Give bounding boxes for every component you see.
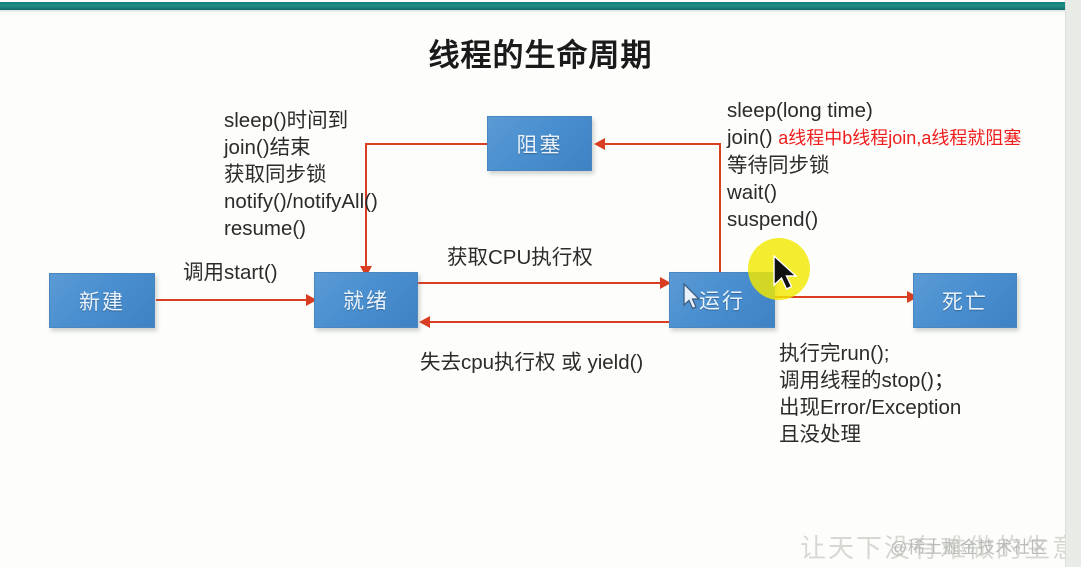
edge-running-to-ready-arrowhead (419, 316, 430, 328)
blocked-exit-line-4: notify()/notifyAll() (224, 188, 378, 215)
slide-canvas: 线程的生命周期 新建 就绪 运行 阻塞 死亡 (0, 0, 1081, 567)
blocked-exit-line-2: join()结束 (224, 134, 378, 161)
state-node-ready-label: 就绪 (343, 285, 389, 315)
state-node-running-label: 运行 (699, 285, 745, 315)
blocked-enter-line-1: sleep(long time) (727, 97, 1021, 124)
edge-label-get-cpu: 获取CPU执行权 (447, 240, 593, 270)
state-node-blocked[interactable]: 阻塞 (487, 116, 592, 171)
blocked-exit-conditions: sleep()时间到 join()结束 获取同步锁 notify()/notif… (224, 107, 378, 242)
edge-new-to-ready-line (156, 299, 306, 301)
edge-blocked-to-ready-hline (365, 143, 487, 145)
death-conditions: 执行完run(); 调用线程的stop()； 出现Error/Exception… (779, 340, 961, 448)
blocked-enter-red-note: a线程中b线程join,a线程就阻塞 (778, 128, 1021, 148)
edge-running-to-blocked-hline (605, 143, 721, 145)
blocked-exit-line-3: 获取同步锁 (224, 161, 378, 188)
blocked-enter-line-5: suspend() (727, 206, 1021, 233)
death-line-1: 执行完run(); (779, 340, 961, 367)
blocked-enter-line-3: 等待同步锁 (727, 152, 1021, 179)
edge-running-to-ready-line (430, 321, 672, 323)
top-accent-bar (0, 2, 1081, 10)
edge-running-to-dead-line (775, 296, 907, 298)
edge-ready-to-running-line (418, 282, 660, 284)
death-line-2: 调用线程的stop()； (779, 367, 961, 394)
blocked-enter-conditions: sleep(long time) join() a线程中b线程join,a线程就… (727, 97, 1021, 233)
death-line-4: 且没处理 (779, 421, 961, 448)
page-gutter-right (1066, 0, 1081, 567)
blocked-enter-line-2: join() a线程中b线程join,a线程就阻塞 (727, 124, 1021, 152)
death-line-3: 出现Error/Exception (779, 394, 961, 421)
page-title: 线程的生命周期 (0, 30, 1081, 75)
watermark-brand: @稀土掘金技术社区 (890, 533, 1048, 558)
state-node-dead-label: 死亡 (942, 286, 988, 316)
state-node-ready[interactable]: 就绪 (314, 272, 418, 328)
blocked-enter-line-2-text: join() (727, 126, 773, 149)
blocked-exit-line-5: resume() (224, 215, 378, 242)
blocked-exit-line-1: sleep()时间到 (224, 107, 378, 134)
blocked-enter-line-4: wait() (727, 179, 1021, 206)
top-accent-bar-shadow (0, 10, 1081, 12)
edge-running-to-blocked-vline (719, 143, 721, 274)
state-node-dead[interactable]: 死亡 (913, 273, 1017, 328)
edge-label-start: 调用start() (183, 255, 278, 285)
state-node-new-label: 新建 (79, 286, 125, 316)
edge-running-to-blocked-arrowhead (594, 138, 605, 150)
state-node-blocked-label: 阻塞 (517, 129, 563, 159)
state-node-new[interactable]: 新建 (49, 273, 155, 328)
edge-label-lose-cpu: 失去cpu执行权 或 yield() (420, 345, 643, 375)
